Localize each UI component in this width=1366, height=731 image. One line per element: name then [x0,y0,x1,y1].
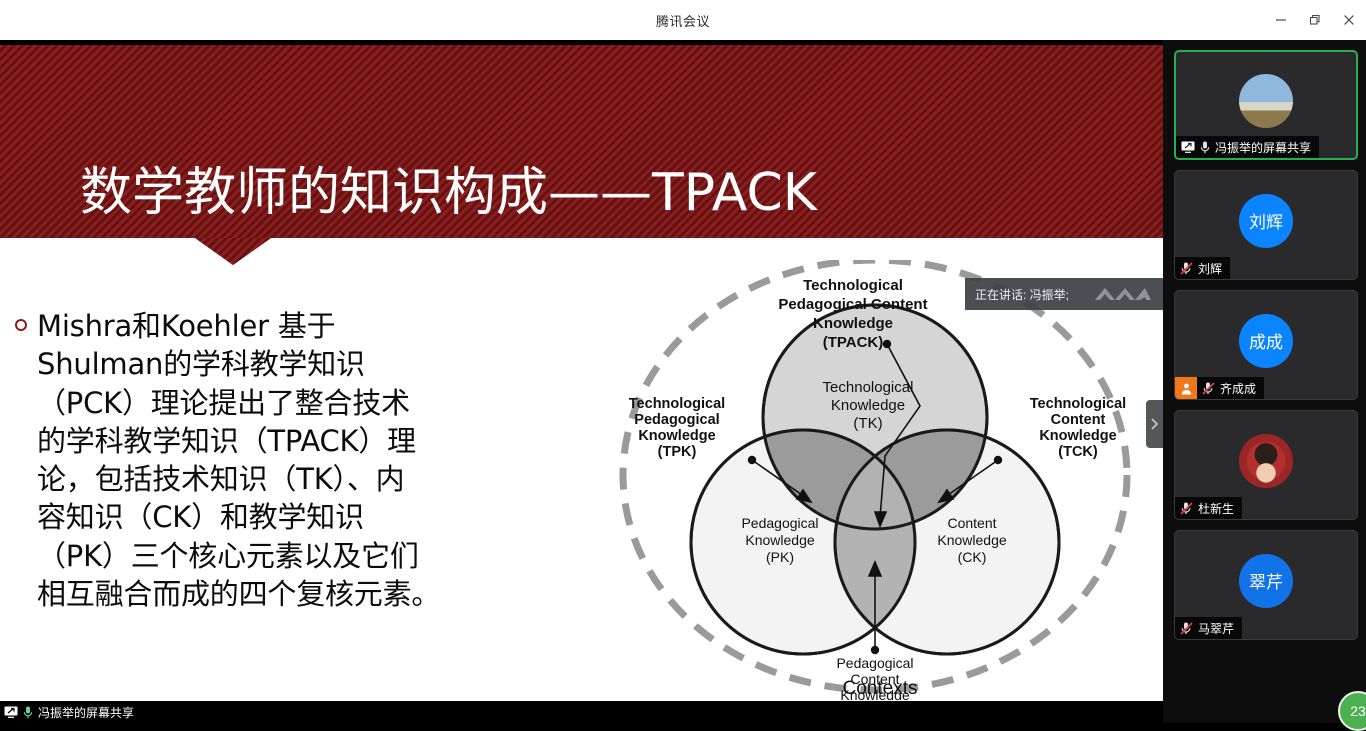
speaking-indicator-toast: 正在讲话: 冯振举; [965,278,1181,310]
svg-text:Technological: Technological [1030,396,1126,412]
participant-tile[interactable]: 翠芹 马翠芹 [1174,530,1358,640]
avatar: 刘辉 [1239,194,1293,248]
svg-text:Knowledge: Knowledge [638,428,715,444]
participant-namebar: 马翠芹 [1175,617,1242,639]
participant-name: 冯振举的屏幕共享 [1215,139,1311,156]
participant-tile[interactable]: 刘辉 刘辉 [1174,170,1358,280]
microphone-muted-icon [1202,382,1215,395]
shared-screen-area[interactable]: 数学教师的知识构成——TPACK Mishra和Koehler 基于 Shulm… [0,40,1163,723]
svg-text:Content: Content [1051,412,1106,428]
meeting-window-body: 数学教师的知识构成——TPACK Mishra和Koehler 基于 Shulm… [0,40,1366,723]
participant-name: 杜新生 [1198,500,1234,517]
window-title: 腾讯会议 [656,11,710,30]
svg-text:Technological: Technological [823,379,914,396]
sound-wave-icon [1093,284,1151,304]
restore-button[interactable] [1298,0,1332,40]
participant-namebar: 冯振举的屏幕共享 [1176,136,1319,158]
participant-tile[interactable]: 成成 齐成成 [1174,290,1358,400]
svg-text:(TCK): (TCK) [1058,444,1098,460]
tpack-venn-diagram: Technological Pedagogical Content Knowle… [600,260,1160,700]
participant-name: 马翠芹 [1198,620,1234,637]
svg-text:Knowledge: Knowledge [745,532,814,548]
avatar: 成成 [1239,314,1293,368]
svg-text:Knowledge: Knowledge [813,315,893,332]
microphone-muted-icon [1180,502,1193,515]
svg-text:Pedagogical: Pedagogical [634,412,719,428]
microphone-muted-icon [1180,262,1193,275]
host-badge [1175,377,1197,399]
svg-text:Knowledge: Knowledge [1039,428,1116,444]
avatar: 翠芹 [1239,554,1293,608]
screen-share-icon [4,706,18,718]
svg-text:(TPACK): (TPACK) [823,334,884,351]
svg-text:Content: Content [947,515,996,531]
svg-text:Technological: Technological [803,277,903,294]
speaking-indicator-text: 正在讲话: 冯振举; [975,286,1069,303]
avatar [1239,74,1293,128]
presentation-slide: 数学教师的知识构成——TPACK Mishra和Koehler 基于 Shulm… [0,45,1163,701]
participants-sidebar[interactable]: 冯振举的屏幕共享 刘辉 刘辉 成成 [1163,40,1366,723]
slide-bullet-text: Mishra和Koehler 基于 Shulman的学科教学知识 （PCK）理论… [37,307,440,613]
tck-label: Technological Content Knowledge (TCK) [1030,396,1126,460]
slide-bullet-item: Mishra和Koehler 基于 Shulman的学科教学知识 （PCK）理论… [10,307,530,613]
microphone-icon [1200,141,1210,154]
tpk-label: Technological Pedagogical Knowledge (TPK… [629,396,725,460]
slide-body: Mishra和Koehler 基于 Shulman的学科教学知识 （PCK）理论… [10,307,530,613]
window-title-bar: 腾讯会议 [0,0,1366,40]
sidebar-collapse-handle[interactable] [1146,400,1163,448]
participant-count-badge[interactable]: 23 [1338,691,1366,731]
close-button[interactable] [1332,0,1366,40]
bottom-share-label-text: 冯振举的屏幕共享 [38,704,134,721]
microphone-icon [23,706,33,719]
svg-text:Pedagogical Content: Pedagogical Content [778,296,927,313]
svg-text:Pedagogical: Pedagogical [836,655,913,671]
svg-text:Knowledge: Knowledge [831,397,905,414]
svg-text:Knowledge: Knowledge [937,532,1006,548]
participant-namebar: 刘辉 [1175,257,1230,279]
bottom-share-indicator: 冯振举的屏幕共享 [0,701,142,723]
svg-text:(TK): (TK) [853,415,882,432]
contexts-label: Contexts [600,678,1160,700]
window-controls [1264,0,1366,40]
svg-text:(TPK): (TPK) [658,444,697,460]
participant-name: 刘辉 [1198,260,1222,277]
svg-text:(CK): (CK) [958,549,987,565]
participant-count-value: 23 [1350,703,1366,719]
participant-namebar: 齐成成 [1197,377,1264,399]
slide-banner-notch [195,238,271,265]
bullet-marker-icon [15,319,27,331]
svg-text:(PK): (PK) [766,549,794,565]
participant-tile[interactable]: 杜新生 [1174,410,1358,520]
avatar [1239,434,1293,488]
microphone-muted-icon [1180,622,1193,635]
minimize-button[interactable] [1264,0,1298,40]
svg-text:Technological: Technological [629,396,725,412]
participant-tile[interactable]: 冯振举的屏幕共享 [1174,50,1358,160]
svg-text:Pedagogical: Pedagogical [741,515,818,531]
slide-title-text: 数学教师的知识构成——TPACK [80,150,817,225]
participant-name: 齐成成 [1220,380,1256,397]
screen-share-icon [1181,141,1195,153]
participant-namebar: 杜新生 [1175,497,1242,519]
